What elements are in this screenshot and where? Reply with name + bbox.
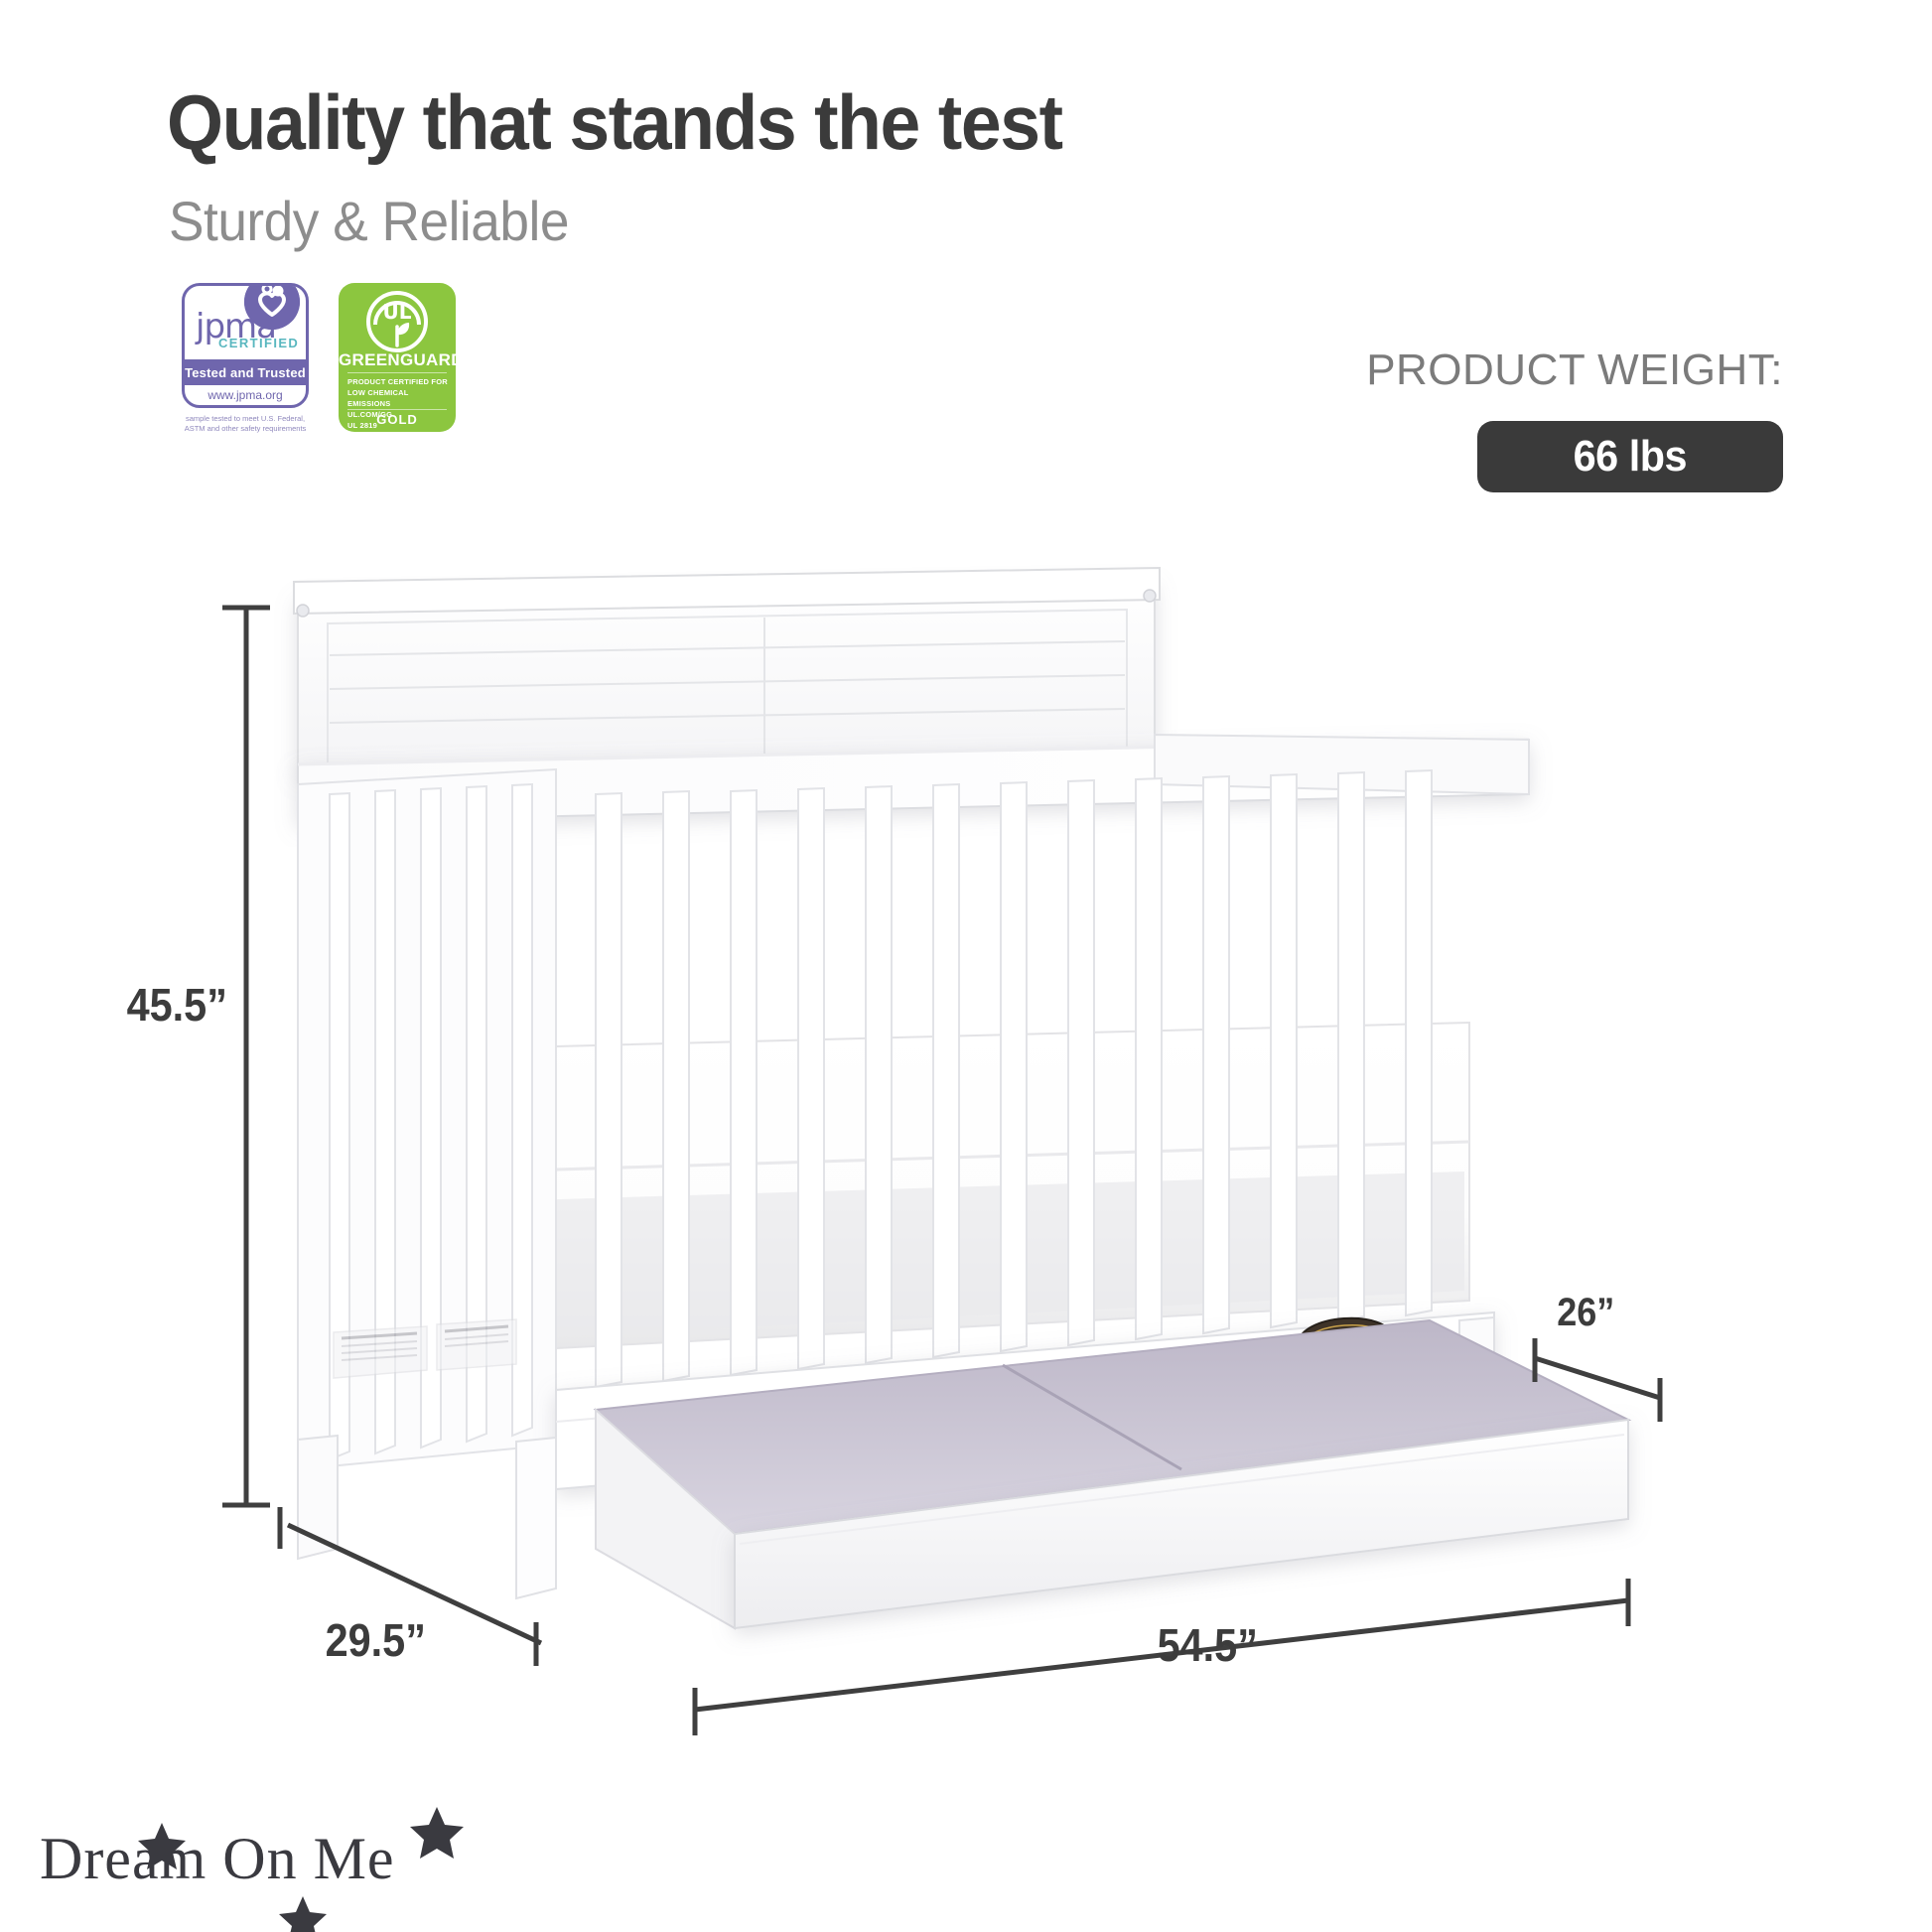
- product-weight-label: PRODUCT WEIGHT:: [1366, 345, 1783, 395]
- jpma-top: jpma CERTIFIED: [185, 286, 306, 347]
- greenguard-divider: [347, 372, 447, 373]
- dimension-lines: [222, 608, 1660, 1735]
- height-dimension-label: 45.5”: [127, 978, 227, 1032]
- jpma-url: www.jpma.org: [185, 386, 306, 404]
- brand-logo: Dream On Me: [40, 1825, 395, 1893]
- greenguard-gold-divider: [347, 409, 447, 410]
- crib-headboard: [294, 568, 1160, 774]
- ul-leaf-icon: UL: [366, 291, 428, 357]
- width-dimension-label: 54.5”: [1158, 1618, 1258, 1672]
- depth-dimension-label: 29.5”: [326, 1613, 426, 1667]
- certification-badges: jpma CERTIFIED Tested and Trusted www.jp…: [182, 283, 456, 434]
- crib-mattress: [328, 1023, 1469, 1360]
- svg-text:Dream On Me: Dream On Me: [1308, 1328, 1383, 1348]
- brand-logo-text: Dream On Me: [40, 1826, 395, 1891]
- page-title: Quality that stands the test: [167, 77, 1062, 168]
- jpma-fine-print: sample tested to meet U.S. Federal, ASTM…: [182, 414, 309, 434]
- jpma-card: jpma CERTIFIED Tested and Trusted www.jp…: [182, 283, 309, 408]
- drawer-depth-dimension-label: 26”: [1557, 1291, 1614, 1335]
- greenguard-level: GOLD: [339, 412, 456, 427]
- greenguard-wordmark: GREENGUARD: [339, 350, 456, 370]
- product-weight-value: 66 lbs: [1574, 432, 1687, 482]
- jpma-certified-badge: jpma CERTIFIED Tested and Trusted www.jp…: [182, 283, 309, 434]
- greenguard-fine-line: PRODUCT CERTIFIED FOR: [347, 377, 450, 388]
- storage-drawer: [596, 1320, 1628, 1628]
- svg-text:UL: UL: [383, 300, 412, 324]
- warning-labels: [334, 1319, 516, 1378]
- drawer-depth-dimension-line: [1535, 1358, 1660, 1398]
- page-subtitle: Sturdy & Reliable: [169, 189, 569, 253]
- jpma-tagline: Tested and Trusted: [185, 359, 306, 385]
- product-weight-badge: 66 lbs: [1477, 421, 1783, 492]
- crib-body: Dream On Me: [294, 568, 1628, 1628]
- crib-front-slats: [596, 770, 1432, 1387]
- brand-plaque: Dream On Me: [1299, 1315, 1393, 1361]
- crib-left-slats: [298, 769, 556, 1469]
- greenguard-fine-line: LOW CHEMICAL EMISSIONS: [347, 388, 450, 410]
- greenguard-gold-badge: UL GREENGUARD PRODUCT CERTIFIED FOR LOW …: [339, 283, 456, 432]
- infographic-canvas: Quality that stands the test Sturdy & Re…: [0, 0, 1932, 1932]
- jpma-certified-text: CERTIFIED: [218, 336, 299, 350]
